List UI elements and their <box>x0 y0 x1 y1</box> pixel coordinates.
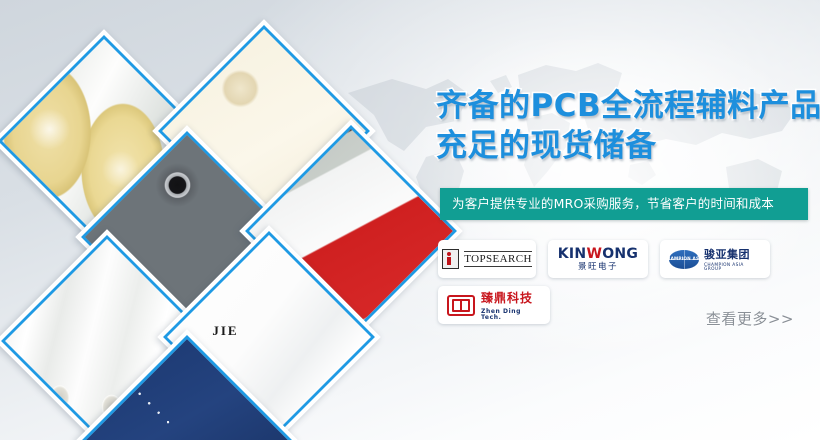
headline: 齐备的PCB全流程辅料产品、 充足的现货储备 <box>436 86 820 166</box>
view-more-link[interactable]: 查看更多>> <box>706 312 794 327</box>
zhending-english-name: Zhen Ding Tech. <box>481 309 541 321</box>
logo-row-1: TOPSEARCH KINWONG 景旺电子 CHAMPION ASIA <box>438 240 818 278</box>
logo-zhending[interactable]: 臻鼎科技 Zhen Ding Tech. <box>438 286 550 324</box>
kinwong-chinese-name: 景旺电子 <box>558 263 638 272</box>
topsearch-lockup: TOPSEARCH <box>442 249 532 269</box>
champion-asia-text: 骏亚集团 CHAMPION ASIA GROUP <box>704 246 761 273</box>
product-collage: JIE <box>0 0 430 440</box>
champion-asia-chinese-name: 骏亚集团 <box>704 248 750 261</box>
logo-kinwong[interactable]: KINWONG 景旺电子 <box>548 240 648 278</box>
champion-asia-english-name: CHAMPION ASIA GROUP <box>704 264 761 273</box>
topsearch-mark-icon <box>442 249 459 269</box>
zhending-text: 臻鼎科技 Zhen Ding Tech. <box>481 290 541 321</box>
zhending-lockup: 臻鼎科技 Zhen Ding Tech. <box>447 290 541 321</box>
kinwong-wordmark-icon: KINWONG <box>558 247 638 261</box>
zhending-chinese-name: 臻鼎科技 <box>481 291 533 305</box>
headline-line-1: 齐备的PCB全流程辅料产品、 <box>436 86 820 126</box>
subtitle-text: 为客户提供专业的MRO采购服务，节省客户的时间和成本 <box>440 198 774 211</box>
zhending-emblem-icon <box>447 295 475 316</box>
globe-inner-text: CHAMPION ASIA <box>669 257 699 261</box>
topsearch-wordmark: TOPSEARCH <box>464 251 532 267</box>
champion-asia-globe-icon: CHAMPION ASIA <box>669 250 699 269</box>
banner-content: 齐备的PCB全流程辅料产品、 充足的现货储备 为客户提供专业的MRO采购服务，节… <box>430 0 820 440</box>
headline-line-2: 充足的现货储备 <box>436 126 820 166</box>
champion-asia-lockup: CHAMPION ASIA 骏亚集团 CHAMPION ASIA GROUP <box>669 246 761 273</box>
subtitle-bar: 为客户提供专业的MRO采购服务，节省客户的时间和成本 <box>440 188 808 220</box>
label-sheet-brand-text: JIE <box>212 323 238 339</box>
promo-banner: JIE 齐备的PCB全流程辅料产品、 充足的现货储备 为客户提供专业的MRO采购… <box>0 0 820 440</box>
kinwong-lockup: KINWONG 景旺电子 <box>558 247 638 272</box>
logo-topsearch[interactable]: TOPSEARCH <box>438 240 536 278</box>
logo-champion-asia[interactable]: CHAMPION ASIA 骏亚集团 CHAMPION ASIA GROUP <box>660 240 770 278</box>
